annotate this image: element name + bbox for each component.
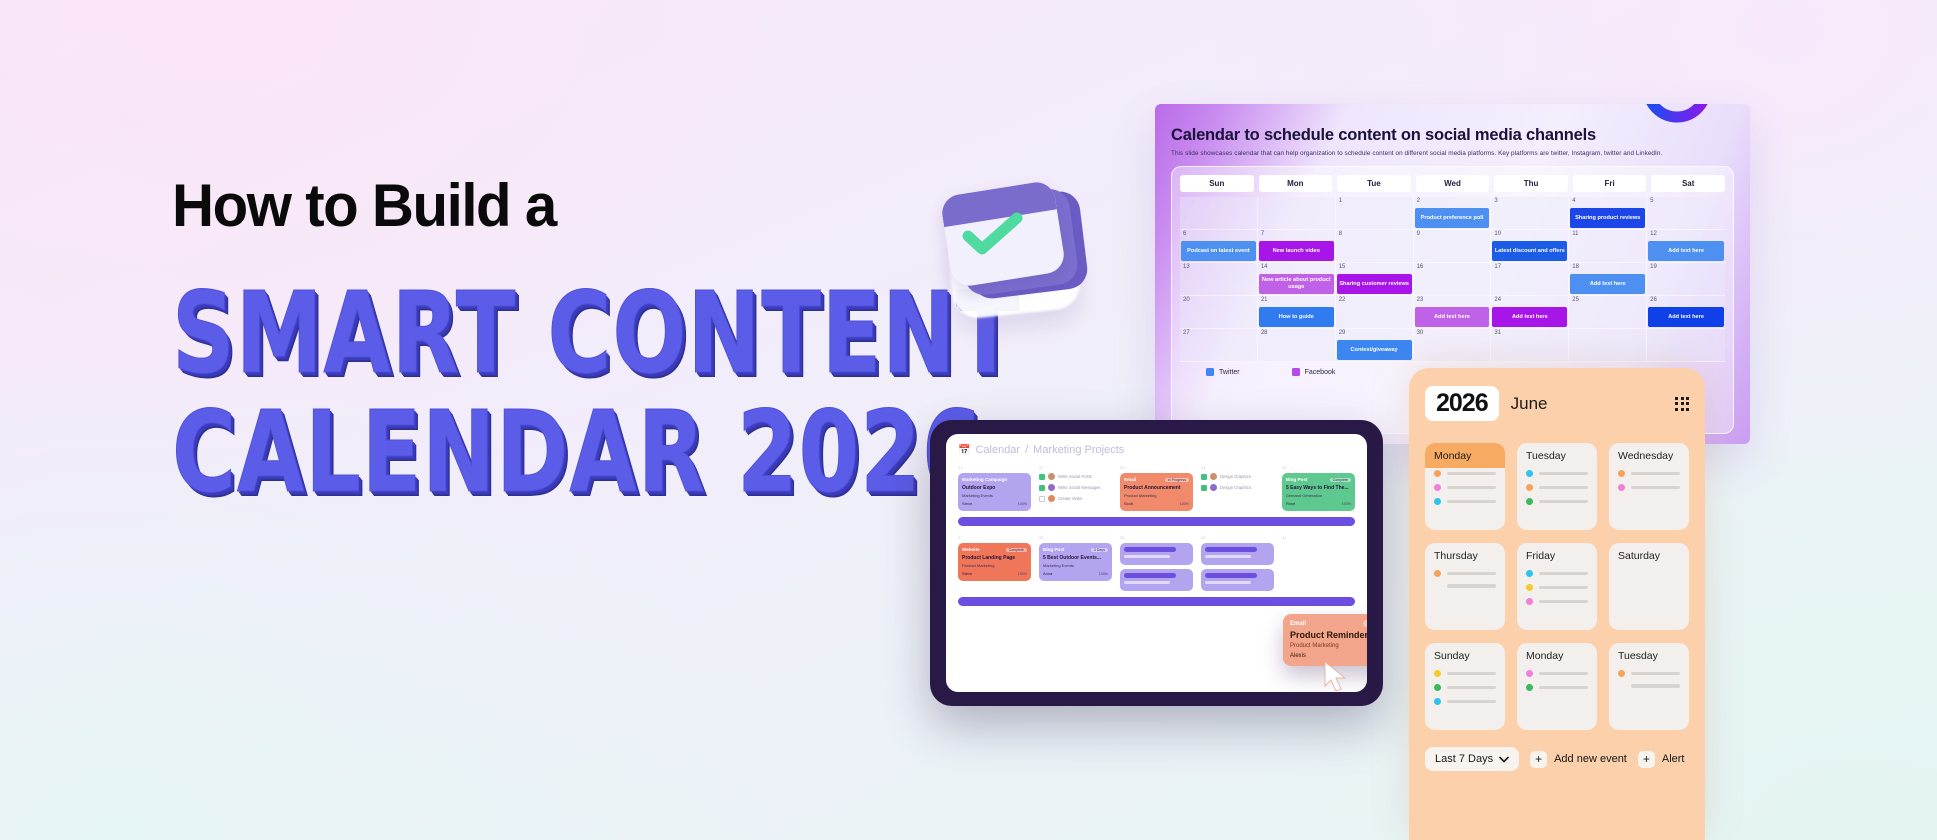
calendar-week-row: 1314New article about product usage15Sha… bbox=[1180, 263, 1725, 296]
day-card-label: Thursday bbox=[1425, 543, 1505, 568]
calendar-day-cell[interactable] bbox=[1569, 329, 1647, 362]
day-number: 25 bbox=[1572, 297, 1579, 303]
event-color-dot bbox=[1618, 670, 1625, 677]
day-number: 6 bbox=[1183, 231, 1186, 237]
calendar-day-cell[interactable]: 15Sharing customer reviews bbox=[1336, 263, 1414, 296]
project-board-row-2: 27WebsiteCompleteProduct Landing PagePro… bbox=[958, 535, 1355, 595]
day-card-events bbox=[1517, 468, 1597, 520]
popup-footer: Alexis 50% bbox=[1290, 653, 1367, 659]
event-text-placeholder bbox=[1539, 486, 1588, 490]
event-text-placeholder bbox=[1447, 700, 1496, 704]
task-progress: 100% bbox=[1018, 572, 1027, 576]
plus-icon: + bbox=[1638, 751, 1655, 768]
day-card-events bbox=[1425, 668, 1505, 720]
event-color-dot bbox=[1526, 470, 1533, 477]
calendar-day-cell[interactable] bbox=[1180, 197, 1258, 230]
board-checklist-item[interactable]: Write Social Posts bbox=[1039, 473, 1112, 480]
event-text-placeholder bbox=[1447, 584, 1496, 588]
event-color-dot bbox=[1434, 684, 1441, 691]
task-status-badge: 3 Days bbox=[1091, 548, 1108, 552]
task-progress: 100% bbox=[1099, 572, 1108, 576]
calendar-event-chip[interactable]: Contest/giveaway bbox=[1337, 340, 1412, 360]
calendar-day-cell[interactable]: 23Add text here bbox=[1414, 296, 1492, 329]
day-number: 30 bbox=[1417, 330, 1424, 336]
day-number: 10 bbox=[1494, 231, 1501, 237]
day-event-item[interactable] bbox=[1526, 584, 1588, 591]
day-event-item[interactable] bbox=[1618, 684, 1680, 688]
add-new-event-label: Add new event bbox=[1554, 753, 1627, 765]
month-label[interactable]: June bbox=[1511, 394, 1548, 414]
day-card-label: Monday bbox=[1425, 443, 1505, 468]
event-color-dot bbox=[1434, 670, 1441, 677]
calendar-event-chip[interactable]: New launch video bbox=[1259, 241, 1334, 261]
day-card-events bbox=[1517, 568, 1597, 620]
day-card-wednesday[interactable]: Wednesday bbox=[1609, 443, 1689, 530]
board-day-column: 22Write Social PostsWrite Social Message… bbox=[1039, 465, 1112, 515]
calendar-weeks: 12Product preference poll34Sharing produ… bbox=[1180, 197, 1725, 362]
task-placeholder-line bbox=[1124, 581, 1170, 584]
task-card-header: Blog Post3 Days bbox=[1043, 547, 1108, 552]
task-assignee: Scott bbox=[1124, 501, 1133, 506]
board-task-card[interactable]: WebsiteCompleteProduct Landing PageProdu… bbox=[958, 543, 1031, 581]
calendar-event-chip[interactable]: Add text here bbox=[1648, 307, 1724, 327]
legend-item-twitter: Twitter bbox=[1206, 368, 1240, 376]
calendar-day-cell[interactable]: 28 bbox=[1258, 329, 1336, 362]
calendar-week-row: 2021How to guide2223Add text here24Add t… bbox=[1180, 296, 1725, 329]
board-day-column: 29 bbox=[1120, 535, 1193, 595]
checklist-label: Write Social Posts bbox=[1058, 474, 1092, 479]
day-event-item[interactable] bbox=[1526, 470, 1588, 477]
calendar-day-cell[interactable]: 11 bbox=[1569, 230, 1647, 263]
day-number: 12 bbox=[1650, 231, 1657, 237]
day-number: 11 bbox=[1572, 231, 1578, 237]
event-text-placeholder bbox=[1539, 572, 1588, 576]
calendar-day-cell[interactable]: 6Podcast on latest event bbox=[1180, 230, 1258, 263]
board-day-number: 25 bbox=[1282, 465, 1355, 470]
board-checklist-item[interactable]: Create Video bbox=[1039, 495, 1112, 502]
board-day-number: 31 bbox=[1282, 535, 1355, 540]
task-tag: Product Marketing bbox=[1124, 493, 1189, 498]
day-number: 14 bbox=[1261, 264, 1268, 270]
event-color-dot bbox=[1434, 698, 1441, 705]
calendar-day-cell[interactable]: 4Sharing product reviews bbox=[1569, 197, 1647, 230]
apps-grid-icon[interactable] bbox=[1675, 397, 1689, 411]
breadcrumb-separator: / bbox=[1025, 444, 1028, 456]
day-card-events bbox=[1517, 668, 1597, 706]
checkbox-icon[interactable] bbox=[1201, 474, 1207, 480]
check-icon bbox=[962, 212, 1024, 256]
day-of-week-header-row: SunMonTueWedThuFriSat bbox=[1180, 175, 1725, 192]
popup-status-badge: In Progress bbox=[1363, 620, 1367, 627]
board-day-number: 21 bbox=[958, 465, 1031, 470]
day-card-tuesday[interactable]: Tuesday bbox=[1517, 443, 1597, 530]
popup-tag: Product Marketing bbox=[1290, 643, 1367, 649]
calendar-day-cell[interactable]: 22 bbox=[1336, 296, 1414, 329]
task-card-footer: Scott100% bbox=[1124, 501, 1189, 506]
popup-user: Alexis bbox=[1290, 653, 1306, 659]
task-placeholder-line bbox=[1124, 555, 1170, 558]
event-text-placeholder bbox=[1539, 672, 1588, 676]
checkbox-icon[interactable] bbox=[1039, 474, 1045, 480]
day-event-item[interactable] bbox=[1434, 584, 1496, 588]
week-widget-header: 2026 June bbox=[1425, 386, 1689, 421]
calendar-event-chip[interactable]: How to guide bbox=[1259, 307, 1334, 327]
calendar-day-cell[interactable]: 14New article about product usage bbox=[1258, 263, 1336, 296]
day-header-sun: Sun bbox=[1180, 175, 1254, 192]
event-text-placeholder bbox=[1447, 500, 1496, 504]
avatar bbox=[1210, 484, 1217, 491]
event-text-placeholder bbox=[1447, 486, 1496, 490]
day-event-item[interactable] bbox=[1434, 698, 1496, 705]
task-type-label: Website bbox=[962, 547, 980, 552]
board-day-number: 28 bbox=[1039, 535, 1112, 540]
day-event-item[interactable] bbox=[1434, 484, 1496, 491]
day-event-item[interactable] bbox=[1618, 484, 1680, 491]
task-tag: Product Marketing bbox=[962, 563, 1027, 568]
calendar-day-cell[interactable]: 12Add text here bbox=[1647, 230, 1725, 263]
board-day-number: 23 bbox=[1120, 465, 1193, 470]
day-card-label: Tuesday bbox=[1609, 643, 1689, 668]
event-color-dot bbox=[1618, 484, 1625, 491]
calendar-week-row: 272829Contest/giveaway3031 bbox=[1180, 329, 1725, 362]
day-number: 29 bbox=[1339, 330, 1346, 336]
date-range-dropdown[interactable]: Last 7 Days bbox=[1425, 747, 1519, 771]
day-card-label: Wednesday bbox=[1609, 443, 1689, 468]
all-events-band-1[interactable] bbox=[958, 517, 1355, 526]
task-card-header: EmailIn Progress bbox=[1124, 477, 1189, 482]
task-chip bbox=[1124, 547, 1176, 552]
day-card-label: Tuesday bbox=[1517, 443, 1597, 468]
calendar-day-cell[interactable]: 16 bbox=[1414, 263, 1492, 296]
calendar-day-cell[interactable]: 20 bbox=[1180, 296, 1258, 329]
checkbox-icon[interactable] bbox=[1039, 496, 1045, 502]
task-type-label: Marketing Campaign bbox=[962, 477, 1007, 482]
board-checklist-item[interactable]: Design Graphics bbox=[1201, 484, 1274, 491]
task-status-badge: Complete bbox=[1006, 548, 1027, 552]
day-number: 1 bbox=[1339, 198, 1342, 204]
day-card-events bbox=[1425, 568, 1505, 603]
day-number: 23 bbox=[1417, 297, 1424, 303]
calendar-event-chip[interactable]: Podcast on latest event bbox=[1181, 241, 1256, 261]
email-task-popup-card[interactable]: Email In Progress Product Reminder Produ… bbox=[1283, 614, 1367, 666]
day-number: 31 bbox=[1494, 330, 1501, 336]
day-header-mon: Mon bbox=[1259, 175, 1333, 192]
calendar-day-cell[interactable]: 25 bbox=[1569, 296, 1647, 329]
event-color-dot bbox=[1526, 484, 1533, 491]
mouse-cursor-icon bbox=[1323, 660, 1349, 692]
year-badge: 2026 bbox=[1425, 386, 1499, 421]
task-title: 5 Easy Ways to Find The... bbox=[1286, 485, 1351, 491]
day-number: 28 bbox=[1261, 330, 1268, 336]
task-card-header: Marketing Campaign bbox=[962, 477, 1027, 482]
board-day-column: 30 bbox=[1201, 535, 1274, 595]
project-board-row-1: 21Marketing CampaignOutdoor ExpoMarketin… bbox=[958, 465, 1355, 515]
checklist-label: Design Graphics bbox=[1220, 485, 1251, 490]
calendar-day-cell[interactable]: 31 bbox=[1491, 329, 1569, 362]
board-task-card[interactable] bbox=[1201, 543, 1274, 565]
breadcrumb-leaf[interactable]: Marketing Projects bbox=[1033, 444, 1124, 456]
calendar-day-cell[interactable]: 2Product preference poll bbox=[1414, 197, 1492, 230]
day-card-tuesday[interactable]: Tuesday bbox=[1609, 643, 1689, 730]
add-new-event-button[interactable]: + Add new event bbox=[1530, 751, 1627, 768]
checklist-label: Create Video bbox=[1058, 496, 1082, 501]
task-progress: 100% bbox=[1018, 502, 1027, 506]
day-event-item[interactable] bbox=[1434, 684, 1496, 691]
day-event-item[interactable] bbox=[1526, 670, 1588, 677]
day-number: 22 bbox=[1339, 297, 1346, 303]
board-day-column: 24Design GraphicsDesign Graphics bbox=[1201, 465, 1274, 515]
calendar-day-cell[interactable] bbox=[1258, 197, 1336, 230]
day-event-item[interactable] bbox=[1618, 670, 1680, 677]
calendar-day-cell[interactable]: 21How to guide bbox=[1258, 296, 1336, 329]
board-task-card[interactable] bbox=[1201, 569, 1274, 591]
day-number: 4 bbox=[1572, 198, 1575, 204]
event-color-dot bbox=[1434, 570, 1441, 577]
event-color-dot bbox=[1434, 470, 1441, 477]
task-title: Product Announcement bbox=[1124, 485, 1189, 491]
day-card-thursday[interactable]: Thursday bbox=[1425, 543, 1505, 630]
board-day-column: 21Marketing CampaignOutdoor ExpoMarketin… bbox=[958, 465, 1031, 515]
checkbox-icon[interactable] bbox=[1201, 485, 1207, 491]
task-assignee: Rose bbox=[1286, 501, 1295, 506]
day-number: 5 bbox=[1650, 198, 1653, 204]
event-text-placeholder bbox=[1539, 686, 1588, 690]
tablet-device-mockup: 📅 Calendar / Marketing Projects 21Market… bbox=[930, 420, 1383, 706]
day-card-events bbox=[1609, 568, 1689, 578]
alert-label: Alert bbox=[1662, 753, 1685, 765]
task-assignee: Steve bbox=[962, 571, 972, 576]
task-card-header: Blog PostComplete bbox=[1286, 477, 1351, 482]
task-assignee: Steve bbox=[962, 501, 972, 506]
day-number: 16 bbox=[1417, 264, 1424, 270]
task-title: 5 Best Outdoor Events... bbox=[1043, 555, 1108, 561]
task-card-footer: Steve100% bbox=[962, 501, 1027, 506]
calendar-day-cell[interactable]: 19 bbox=[1647, 263, 1725, 296]
event-color-dot bbox=[1526, 584, 1533, 591]
day-header-sat: Sat bbox=[1651, 175, 1725, 192]
calendar-day-cell[interactable]: 1 bbox=[1336, 197, 1414, 230]
task-tag: Demand Generation bbox=[1286, 493, 1351, 498]
board-task-card[interactable]: Blog PostComplete5 Easy Ways to Find The… bbox=[1282, 473, 1355, 511]
plus-icon: + bbox=[1530, 751, 1547, 768]
task-title: Outdoor Expo bbox=[962, 485, 1027, 491]
day-card-label: Friday bbox=[1517, 543, 1597, 568]
day-card-monday[interactable]: Monday bbox=[1517, 643, 1597, 730]
calendar-day-cell[interactable] bbox=[1647, 329, 1725, 362]
event-text-placeholder bbox=[1631, 672, 1680, 676]
day-event-item[interactable] bbox=[1434, 570, 1496, 577]
task-chip bbox=[1205, 573, 1257, 578]
day-event-item[interactable] bbox=[1526, 598, 1588, 605]
calendar-day-cell[interactable]: 29Contest/giveaway bbox=[1336, 329, 1414, 362]
task-tag: Marketing Events bbox=[1043, 563, 1108, 568]
event-text-placeholder bbox=[1447, 472, 1496, 476]
slide-subtitle: This slide showcases calendar that can h… bbox=[1171, 150, 1732, 159]
calendar-event-chip[interactable]: Add text here bbox=[1492, 307, 1567, 327]
calendar-event-chip[interactable]: Add text here bbox=[1415, 307, 1490, 327]
all-events-band-2[interactable] bbox=[958, 597, 1355, 606]
avatar bbox=[1210, 473, 1217, 480]
chevron-down-icon bbox=[1499, 756, 1509, 763]
hero-headline: How to Build a SMART CONTENT CALENDAR 20… bbox=[172, 176, 932, 507]
day-event-item[interactable] bbox=[1434, 470, 1496, 477]
board-day-column: 25Blog PostComplete5 Easy Ways to Find T… bbox=[1282, 465, 1355, 515]
day-event-item[interactable] bbox=[1434, 498, 1496, 505]
day-number: 20 bbox=[1183, 297, 1190, 303]
3d-calendar-check-icon bbox=[928, 168, 1092, 324]
day-card-events bbox=[1609, 668, 1689, 703]
board-task-card[interactable]: Marketing CampaignOutdoor ExpoMarketing … bbox=[958, 473, 1031, 511]
calendar-day-cell[interactable]: 13 bbox=[1180, 263, 1258, 296]
board-day-column: 23EmailIn ProgressProduct AnnouncementPr… bbox=[1120, 465, 1193, 515]
board-day-number: 30 bbox=[1201, 535, 1274, 540]
headline-line-2: CALENDAR 2026 bbox=[172, 399, 765, 508]
event-color-dot bbox=[1434, 498, 1441, 505]
calendar-event-chip[interactable]: Latest discount and offers bbox=[1492, 241, 1567, 261]
board-checklist-item[interactable]: Write Social Messages bbox=[1039, 484, 1112, 491]
task-placeholder-line bbox=[1205, 555, 1251, 558]
day-number: 2 bbox=[1417, 198, 1420, 204]
day-number: 3 bbox=[1494, 198, 1497, 204]
calendar-event-chip[interactable]: Sharing product reviews bbox=[1570, 208, 1645, 228]
calendar-event-chip[interactable]: New article about product usage bbox=[1259, 274, 1334, 294]
breadcrumb: 📅 Calendar / Marketing Projects bbox=[958, 444, 1355, 456]
day-card-label: Monday bbox=[1517, 643, 1597, 668]
task-type-label: Blog Post bbox=[1286, 477, 1307, 482]
checklist-label: Write Social Messages bbox=[1058, 485, 1101, 490]
calendar-day-cell[interactable]: 30 bbox=[1414, 329, 1492, 362]
task-placeholder-line bbox=[1205, 581, 1251, 584]
calendar-day-cell[interactable]: 17 bbox=[1491, 263, 1569, 296]
day-card-saturday[interactable]: Saturday bbox=[1609, 543, 1689, 630]
day-cards-grid: MondayTuesdayWednesdayThursdayFridaySatu… bbox=[1425, 443, 1689, 730]
event-color-dot bbox=[1526, 570, 1533, 577]
day-number: 26 bbox=[1650, 297, 1657, 303]
calendar-day-cell[interactable]: 26Add text here bbox=[1647, 296, 1725, 329]
day-number: 17 bbox=[1494, 264, 1501, 270]
day-card-monday[interactable]: Monday bbox=[1425, 443, 1505, 530]
avatar bbox=[1048, 495, 1055, 502]
board-task-card[interactable]: EmailIn ProgressProduct AnnouncementProd… bbox=[1120, 473, 1193, 511]
task-card-header: WebsiteComplete bbox=[962, 547, 1027, 552]
day-card-label: Saturday bbox=[1609, 543, 1689, 568]
board-day-number: 24 bbox=[1201, 465, 1274, 470]
event-text-placeholder bbox=[1631, 684, 1680, 688]
day-event-item[interactable] bbox=[1618, 470, 1680, 477]
legend-item-facebook: Facebook bbox=[1292, 368, 1336, 376]
event-text-placeholder bbox=[1447, 686, 1496, 690]
board-task-card[interactable]: Blog Post3 Days5 Best Outdoor Events...M… bbox=[1039, 543, 1112, 581]
board-task-card[interactable] bbox=[1120, 543, 1193, 565]
day-card-friday[interactable]: Friday bbox=[1517, 543, 1597, 630]
day-number: 18 bbox=[1572, 264, 1579, 270]
calendar-day-cell[interactable]: 24Add text here bbox=[1491, 296, 1569, 329]
board-day-number: 29 bbox=[1120, 535, 1193, 540]
task-chip bbox=[1205, 547, 1257, 552]
event-color-dot bbox=[1526, 598, 1533, 605]
event-text-placeholder bbox=[1539, 472, 1588, 476]
event-color-dot bbox=[1618, 470, 1625, 477]
event-text-placeholder bbox=[1539, 500, 1588, 504]
board-day-column: 27WebsiteCompleteProduct Landing PagePro… bbox=[958, 535, 1031, 595]
calendar-event-chip[interactable]: Add text here bbox=[1648, 241, 1724, 261]
calendar-day-cell[interactable]: 10Latest discount and offers bbox=[1491, 230, 1569, 263]
calendar-day-cell[interactable]: 8 bbox=[1336, 230, 1414, 263]
day-card-label: Sunday bbox=[1425, 643, 1505, 668]
task-title: Product Landing Page bbox=[962, 555, 1027, 561]
avatar bbox=[1048, 484, 1055, 491]
board-day-column: 28Blog Post3 Days5 Best Outdoor Events..… bbox=[1039, 535, 1112, 595]
popup-card-header: Email In Progress bbox=[1290, 620, 1367, 627]
calendar-day-cell[interactable]: 7New launch video bbox=[1258, 230, 1336, 263]
task-card-footer: Steve100% bbox=[962, 571, 1027, 576]
board-day-number: 22 bbox=[1039, 465, 1112, 470]
day-event-item[interactable] bbox=[1526, 498, 1588, 505]
board-checklist-item[interactable]: Design Graphics bbox=[1201, 473, 1274, 480]
day-number: 21 bbox=[1261, 297, 1268, 303]
calendar-event-chip[interactable]: Product preference poll bbox=[1415, 208, 1490, 228]
day-number: 15 bbox=[1339, 264, 1346, 270]
day-event-item[interactable] bbox=[1526, 684, 1588, 691]
day-event-item[interactable] bbox=[1526, 484, 1588, 491]
popup-chip-label: Email bbox=[1290, 621, 1306, 627]
board-day-column: 31 bbox=[1282, 535, 1355, 595]
legend-label: Twitter bbox=[1219, 369, 1240, 376]
event-text-placeholder bbox=[1539, 586, 1588, 590]
legend-swatch bbox=[1206, 368, 1214, 376]
calendar-day-cell[interactable]: 27 bbox=[1180, 329, 1258, 362]
day-number: 13 bbox=[1183, 264, 1190, 270]
calendar-day-cell[interactable]: 3 bbox=[1491, 197, 1569, 230]
calendar-day-cell[interactable]: 5 bbox=[1647, 197, 1725, 230]
checklist-label: Design Graphics bbox=[1220, 474, 1251, 479]
task-status-badge: In Progress bbox=[1165, 478, 1189, 482]
task-type-label: Blog Post bbox=[1043, 547, 1064, 552]
week-planner-widget: 2026 June MondayTuesdayWednesdayThursday… bbox=[1409, 368, 1705, 840]
popup-title: Product Reminder bbox=[1290, 630, 1367, 640]
day-card-events bbox=[1609, 468, 1689, 506]
board-task-card[interactable] bbox=[1120, 569, 1193, 591]
task-tag: Marketing Events bbox=[962, 493, 1027, 498]
event-text-placeholder bbox=[1631, 472, 1680, 476]
board-day-number: 27 bbox=[958, 535, 1031, 540]
day-card-sunday[interactable]: Sunday bbox=[1425, 643, 1505, 730]
calendar-event-chip[interactable]: Add text here bbox=[1570, 274, 1645, 294]
alert-button[interactable]: + Alert bbox=[1638, 751, 1685, 768]
event-text-placeholder bbox=[1539, 600, 1588, 604]
event-color-dot bbox=[1434, 484, 1441, 491]
checkbox-icon[interactable] bbox=[1039, 485, 1045, 491]
slide-title: Calendar to schedule content on social m… bbox=[1171, 126, 1596, 145]
day-number: 9 bbox=[1417, 231, 1420, 237]
calendar-day-cell[interactable]: 18Add text here bbox=[1569, 263, 1647, 296]
calendar-week-row: 12Product preference poll34Sharing produ… bbox=[1180, 197, 1725, 230]
event-color-dot bbox=[1526, 670, 1533, 677]
breadcrumb-root[interactable]: Calendar bbox=[975, 444, 1020, 456]
legend-label: Facebook bbox=[1305, 369, 1336, 376]
day-event-item[interactable] bbox=[1434, 670, 1496, 677]
calendar-week-row: 6Podcast on latest event7New launch vide… bbox=[1180, 230, 1725, 263]
day-number: 27 bbox=[1183, 330, 1190, 336]
task-card-footer: Anna100% bbox=[1043, 571, 1108, 576]
task-progress: 100% bbox=[1342, 502, 1351, 506]
day-event-item[interactable] bbox=[1526, 570, 1588, 577]
calendar-day-cell[interactable]: 9 bbox=[1414, 230, 1492, 263]
day-header-fri: Fri bbox=[1573, 175, 1647, 192]
day-card-events bbox=[1425, 468, 1505, 520]
calendar-event-chip[interactable]: Sharing customer reviews bbox=[1337, 274, 1412, 294]
day-number: 24 bbox=[1494, 297, 1501, 303]
